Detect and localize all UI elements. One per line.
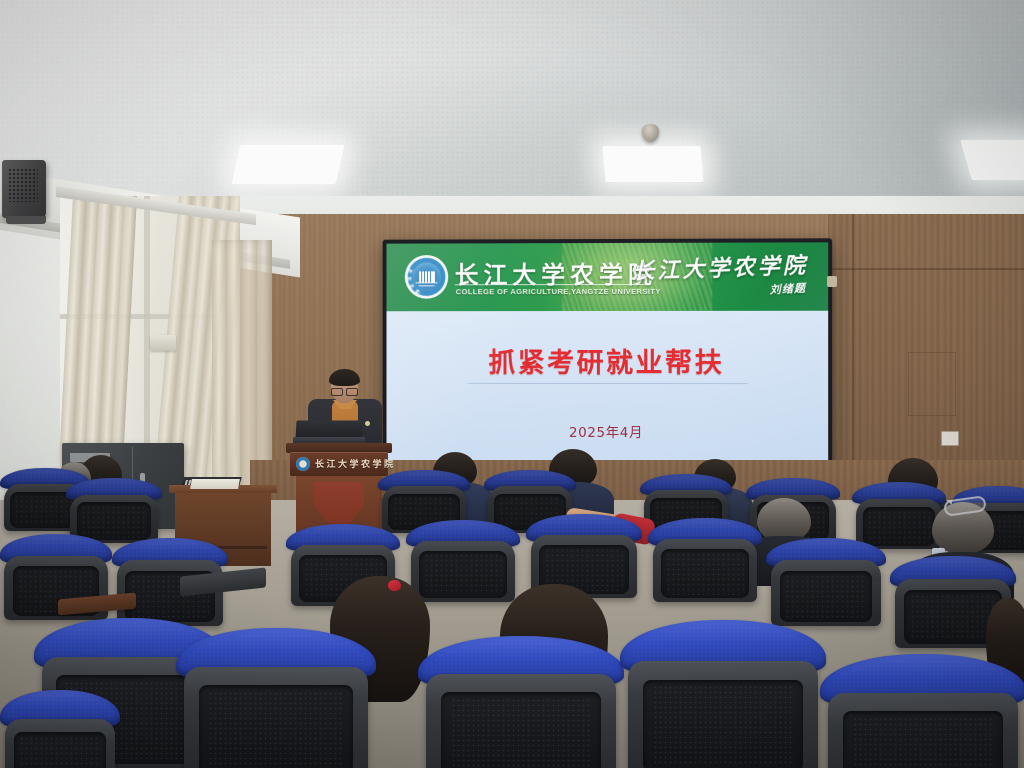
auditorium-seat <box>620 620 826 768</box>
seat-back-panel <box>643 680 802 768</box>
wall-seam <box>828 268 1024 270</box>
slide-title: 抓紧考研就业帮扶 <box>386 341 828 380</box>
podium-plaque: 长江大学农学院 <box>290 452 388 476</box>
projection-screen: 长江大学农学院 COLLEGE OF AGRICULTURE,YANGTZE U… <box>383 238 833 467</box>
wall-outlet <box>941 431 959 446</box>
slide-date: 2025年4月 <box>386 421 828 442</box>
banner-institution-en: COLLEGE OF AGRICULTURE,YANGTZE UNIVERSIT… <box>456 287 661 296</box>
screen-mount-bracket <box>827 276 837 287</box>
auditorium-seat <box>766 538 886 624</box>
seat-shell <box>411 541 516 602</box>
seat-back-panel <box>661 549 749 598</box>
auditorium-seat <box>406 520 520 600</box>
projected-slide: 长江大学农学院 COLLEGE OF AGRICULTURE,YANGTZE U… <box>386 242 828 462</box>
ceiling-panel-light <box>602 146 703 182</box>
presenter-hair <box>329 369 360 386</box>
conference-hall-photo: 长江大学农学院 COLLEGE OF AGRICULTURE,YANGTZE U… <box>0 0 1024 768</box>
auditorium-seat <box>418 636 624 768</box>
seat-shell <box>184 667 368 768</box>
podium-plaque-text: 长江大学农学院 <box>315 457 396 470</box>
auditorium-seat <box>820 654 1024 768</box>
speaker-bracket <box>6 216 46 224</box>
hair-tie <box>388 580 401 591</box>
seat-back-panel <box>14 732 107 768</box>
auditorium-seat <box>66 478 162 542</box>
desk-papers <box>190 479 240 489</box>
wall-loudspeaker-icon <box>2 160 46 218</box>
slide-underline-rule <box>468 383 748 384</box>
banner-calligraphy-signature: 刘绪题 <box>769 280 806 298</box>
ceiling-panel-light <box>960 140 1024 180</box>
seat-back-panel <box>780 571 873 622</box>
ceiling-panel-light <box>231 145 344 184</box>
seat-shell <box>5 719 115 768</box>
presenter-badge <box>365 421 370 426</box>
seat-back-panel <box>843 711 1002 768</box>
seat-shell <box>653 539 758 601</box>
seat-shell <box>628 661 818 768</box>
seat-back-panel <box>441 692 600 768</box>
seat-shell <box>771 560 881 625</box>
air-vent <box>150 335 176 351</box>
seat-shell <box>828 693 1018 768</box>
podium-logo-icon <box>296 457 310 471</box>
wall-panel-outline <box>908 352 956 416</box>
seat-shell <box>426 674 616 768</box>
seat-back-panel <box>419 551 507 598</box>
emblem-ring-text <box>406 256 447 297</box>
seat-back-panel <box>199 685 354 768</box>
auditorium-seat <box>176 628 376 768</box>
auditorium-seat <box>648 518 762 600</box>
presenter-glasses-icon <box>331 388 358 394</box>
yangtze-university-emblem-icon <box>406 256 447 297</box>
slide-banner-header: 长江大学农学院 COLLEGE OF AGRICULTURE,YANGTZE U… <box>386 242 828 311</box>
auditorium-seat <box>0 690 120 768</box>
